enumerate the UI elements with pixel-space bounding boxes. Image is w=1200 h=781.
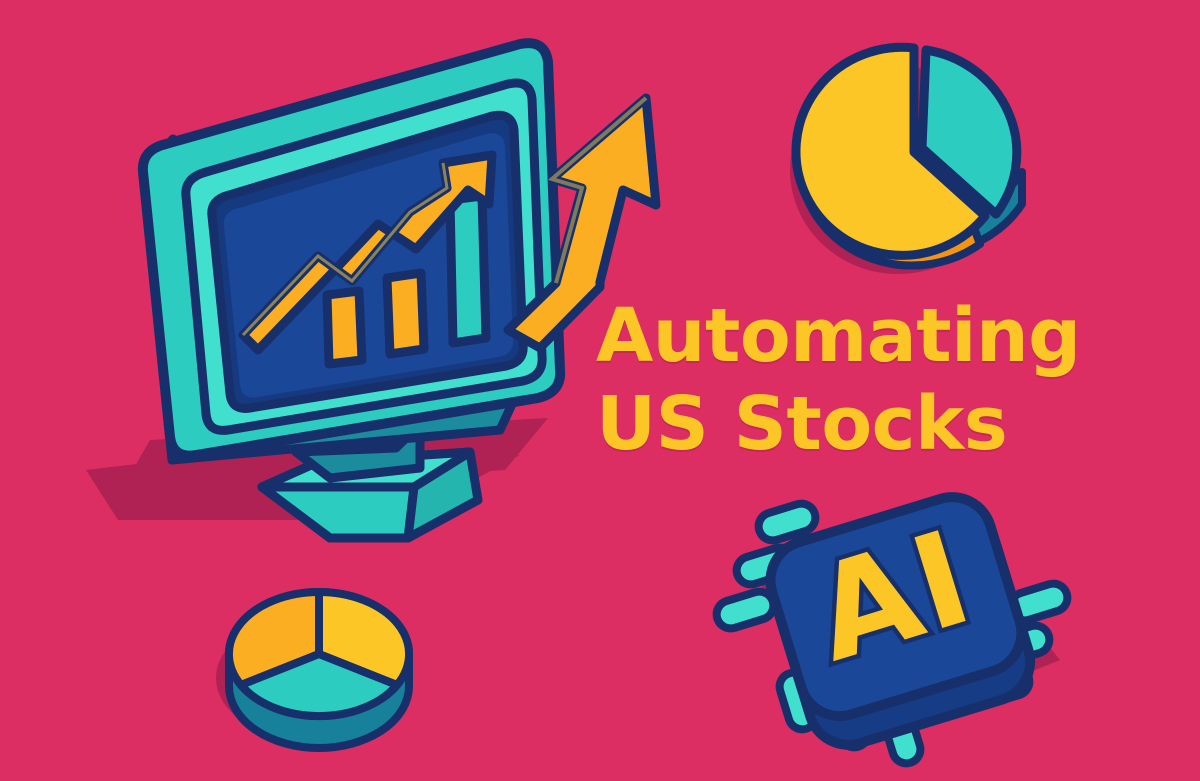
ai-chip-illustration: AI [0,0,1200,781]
poster-canvas: AI Automating US Stocks [0,0,1200,781]
